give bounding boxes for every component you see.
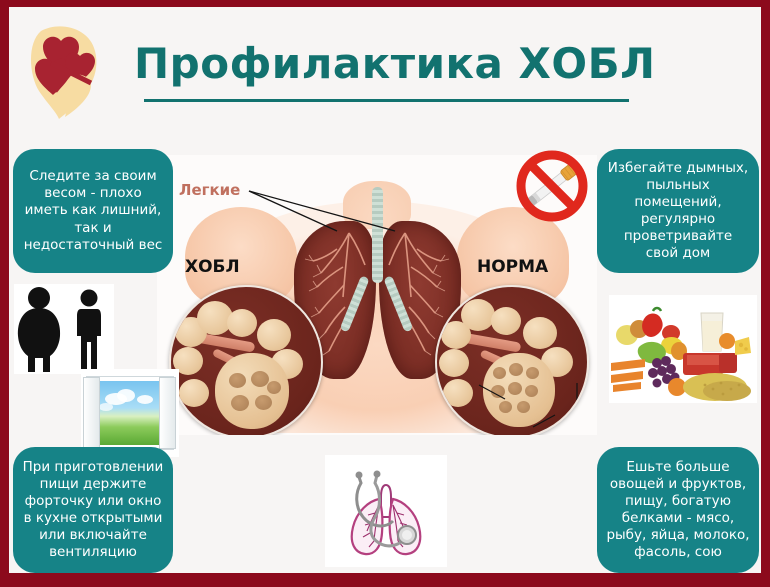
callout-weight-text: Следите за своим весом - плохо иметь как… — [22, 168, 164, 254]
label-copd: ХОБЛ — [185, 257, 240, 277]
callout-nutrition-advice: Ешьте больше овощей и фруктов, пищу, бог… — [597, 447, 759, 573]
label-normal: НОРМА — [477, 257, 548, 277]
title-underline — [144, 99, 629, 102]
heart-in-hand-logo — [21, 17, 111, 120]
callout-dust-text: Избегайте дымных, пыльных помещений, рег… — [606, 160, 750, 263]
infographic-poster: Профилактика ХОБЛ — [0, 0, 770, 587]
callout-dust-advice: Избегайте дымных, пыльных помещений, рег… — [597, 149, 759, 273]
callout-nutrition-text: Ешьте больше овощей и фруктов, пищу, бог… — [606, 459, 750, 562]
window-sash-left — [83, 377, 100, 449]
page-title: Профилактика ХОБЛ — [134, 43, 654, 85]
window-sash-right — [159, 377, 176, 449]
obese-person-icon — [14, 284, 64, 374]
no-smoking-icon — [511, 145, 593, 227]
label-lungs: Легкие — [179, 181, 240, 199]
callout-weight-advice: Следите за своим весом - плохо иметь как… — [13, 149, 173, 273]
open-window-photo — [81, 369, 179, 457]
healthy-food-photo — [609, 295, 757, 403]
callout-ventilation-text: При приготовлении пищи держите форточку … — [22, 459, 164, 562]
lungs-stethoscope-icon — [325, 455, 447, 567]
poster-page: Профилактика ХОБЛ — [9, 7, 761, 573]
callout-ventilation-advice: При приготовлении пищи держите форточку … — [13, 447, 173, 573]
body-weight-figures — [14, 284, 114, 374]
thin-person-icon — [64, 284, 114, 374]
poster-header: Профилактика ХОБЛ — [9, 7, 761, 129]
